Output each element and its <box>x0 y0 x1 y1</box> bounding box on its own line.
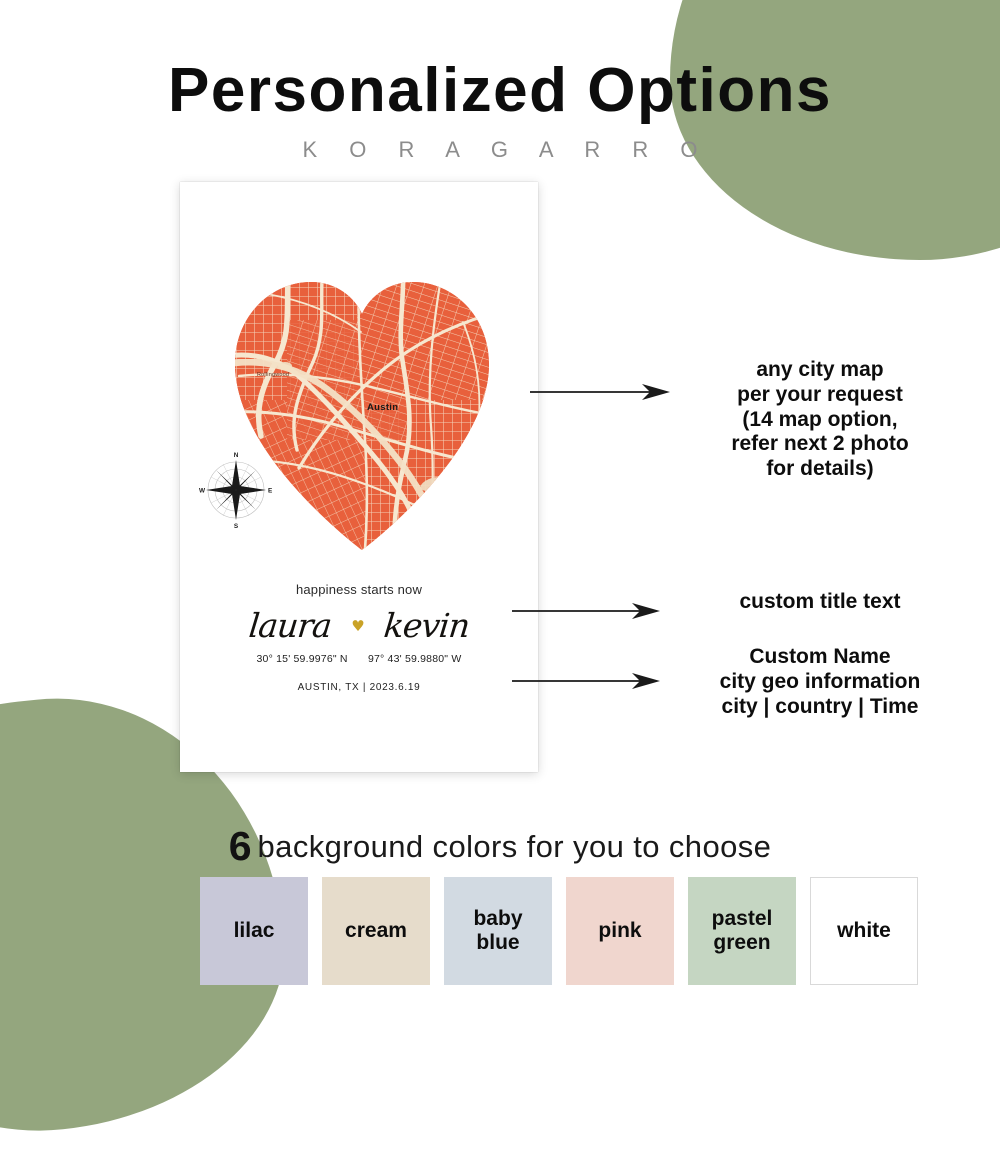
swatch-label: lilac <box>234 919 275 943</box>
poster-preview-card: Austin Rollingwood <box>180 182 538 772</box>
poster-name-right: kevin <box>382 608 471 644</box>
poster-longitude: 97° 43' 59.9880" W <box>368 653 462 665</box>
callout-arrow-name <box>512 670 660 692</box>
poster-listing-canvas: Personalized Options K O R A G A R R O <box>0 0 1000 1000</box>
brand-subtitle: K O R A G A R R O <box>0 137 1000 163</box>
callout-map-line-3: (14 map option, <box>660 408 980 433</box>
compass-rose-icon: N S W E <box>195 448 277 530</box>
poster-coordinates: 30° 15' 59.9976" N 97° 43' 59.9880" W <box>180 653 538 665</box>
heart-icon: ♥ <box>351 618 363 635</box>
callout-text-name: Custom Name city geo information city | … <box>650 645 990 719</box>
callout-name-line-2: city geo information <box>650 670 990 695</box>
swatch-cream[interactable]: cream <box>322 877 430 985</box>
poster-latitude: 30° 15' 59.9976" N <box>257 653 348 665</box>
swatch-lilac[interactable]: lilac <box>200 877 308 985</box>
poster-text-block: happiness starts now laura ♥ kevin 30° 1… <box>180 582 538 693</box>
poster-tagline: happiness starts now <box>180 582 538 597</box>
swatch-label: pastelgreen <box>712 907 773 954</box>
callout-name-line-1: Custom Name <box>650 645 990 670</box>
swatch-label: pink <box>598 919 641 943</box>
callout-text-title: custom title text <box>660 590 980 615</box>
compass-south-label: S <box>234 523 239 530</box>
heart-map-area: Austin Rollingwood <box>180 260 538 570</box>
swatch-section-heading: 6background colors for you to choose <box>0 823 1000 870</box>
poster-names: laura ♥ kevin <box>180 608 538 644</box>
page-title: Personalized Options <box>0 58 1000 123</box>
callout-arrow-map <box>530 381 670 403</box>
poster-place-date: AUSTIN, TX | 2023.6.19 <box>180 682 538 693</box>
callout-name-line-3: city | country | Time <box>650 695 990 720</box>
swatch-label: cream <box>345 919 407 943</box>
callout-map-line-2: per your request <box>660 383 980 408</box>
swatch-label: white <box>837 919 891 943</box>
swatch-baby-blue[interactable]: babyblue <box>444 877 552 985</box>
swatch-white[interactable]: white <box>810 877 918 985</box>
callout-text-map: any city map per your request (14 map op… <box>660 358 980 482</box>
callout-title-line-1: custom title text <box>660 590 980 615</box>
swatch-pastel-green[interactable]: pastelgreen <box>688 877 796 985</box>
swatch-label: babyblue <box>473 907 522 954</box>
callout-arrow-title <box>512 600 660 622</box>
callout-map-line-1: any city map <box>660 358 980 383</box>
compass-west-label: W <box>199 487 206 494</box>
compass-east-label: E <box>268 487 273 494</box>
compass-north-label: N <box>234 452 239 459</box>
map-suburb-label: Rollingwood <box>257 372 289 378</box>
callout-map-line-4: refer next 2 photo <box>660 432 980 457</box>
swatch-pink[interactable]: pink <box>566 877 674 985</box>
callout-map-line-5: for details) <box>660 457 980 482</box>
map-city-label: Austin <box>367 402 398 413</box>
poster-name-left: laura <box>247 608 333 644</box>
header: Personalized Options K O R A G A R R O <box>0 58 1000 163</box>
swatch-count: 6 <box>229 823 252 869</box>
swatch-heading-text: background colors for you to choose <box>252 829 772 864</box>
background-color-swatches: lilaccreambabybluepinkpastelgreenwhite <box>200 877 936 987</box>
